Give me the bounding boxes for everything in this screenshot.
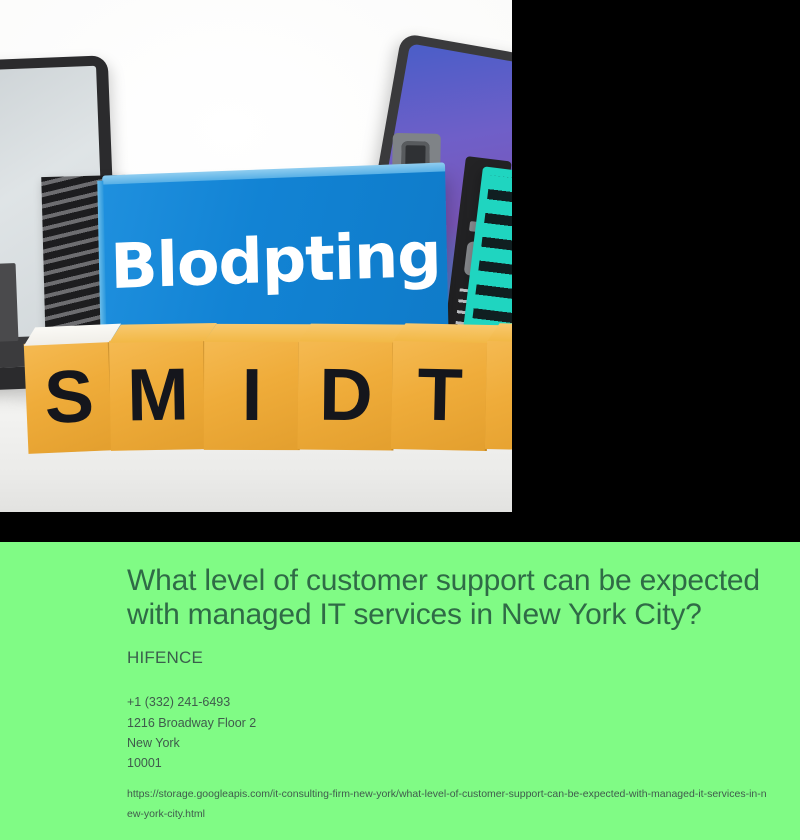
letter-block-glyph: D [319, 358, 373, 433]
page-root: Blodpting S M I D T [0, 0, 800, 840]
letter-block-glyph: M [127, 357, 190, 432]
letter-block-glyph: I [242, 358, 263, 432]
letter-block-top-face [24, 324, 121, 346]
letter-block-top-face [299, 324, 407, 343]
letter-block: D [297, 340, 394, 451]
contact-phone: +1 (332) 241-6493 [127, 692, 780, 712]
letter-block: I [204, 340, 300, 450]
letter-block-glyph: S [43, 359, 96, 435]
letter-block: T [391, 339, 489, 451]
letter-block-top-face [204, 324, 312, 342]
letter-block-top-face [109, 323, 217, 343]
letter-blocks-row: S M I D T I G [26, 328, 512, 450]
page-title: What level of customer support can be ex… [127, 564, 767, 632]
info-card-inner: What level of customer support can be ex… [0, 542, 800, 824]
contact-block: +1 (332) 241-6493 1216 Broadway Floor 2 … [127, 692, 780, 773]
letter-block: I [485, 339, 512, 451]
letter-block: M [109, 339, 207, 451]
letter-block-top-face [393, 323, 501, 343]
letter-block-glyph: T [417, 358, 464, 433]
brand-name: HIFENCE [127, 648, 780, 668]
contact-city: New York [127, 733, 780, 753]
info-card: What level of customer support can be ex… [0, 542, 800, 840]
contact-street: 1216 Broadway Floor 2 [127, 713, 780, 733]
letter-block: S [24, 340, 115, 454]
hero-photo: Blodpting S M I D T [0, 0, 512, 512]
contact-zip: 10001 [127, 753, 780, 773]
left-tablet-screen-block [0, 263, 19, 342]
blue-sign-text: Blodpting [103, 223, 447, 298]
source-url[interactable]: https://storage.googleapis.com/it-consul… [127, 785, 772, 824]
